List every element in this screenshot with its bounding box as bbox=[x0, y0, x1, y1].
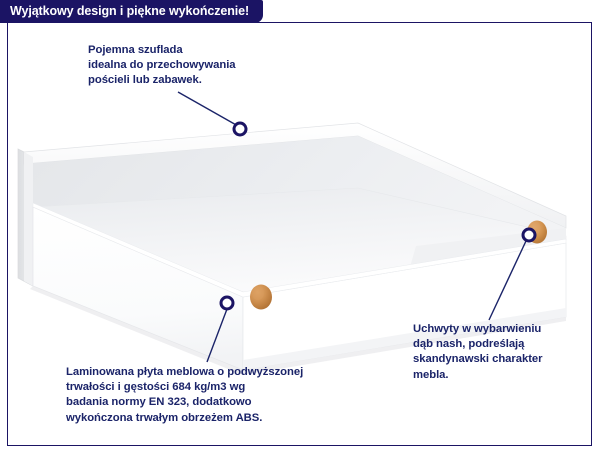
infographic-canvas: Pojemna szuflada idealna do przechowywan… bbox=[0, 0, 601, 455]
annotation-capacity: Pojemna szuflada idealna do przechowywan… bbox=[88, 43, 236, 89]
header-banner: Wyjątkowy design i piękne wykończenie! bbox=[0, 0, 263, 23]
handle-left bbox=[250, 285, 272, 310]
annotation-handles: Uchwyty w wybarwieniu dąb nash, podreśla… bbox=[413, 322, 543, 383]
drawer-left-side-panel bbox=[18, 149, 33, 286]
handle-right bbox=[527, 221, 547, 244]
annotation-board-quality: Laminowana płyta meblowa o podwyższonej … bbox=[66, 365, 303, 426]
